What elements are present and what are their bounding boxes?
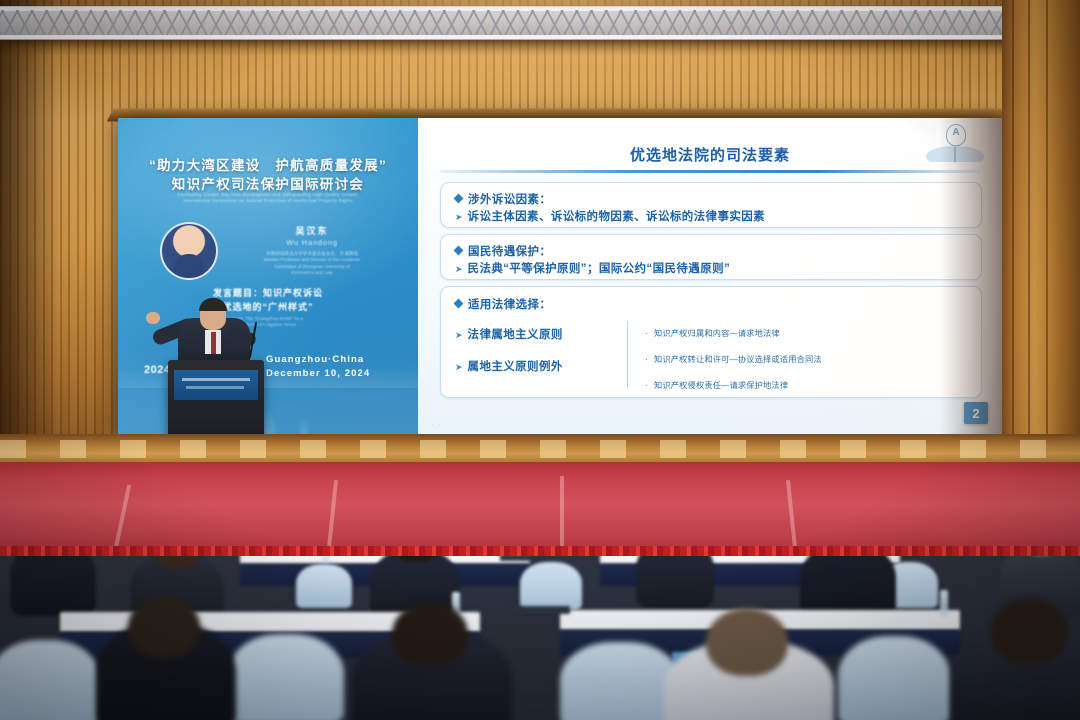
presentation-slide: 优选地法院的司法要素 涉外诉讼因素： ➤诉讼主体因素、诉讼标的物因素、诉讼标的法… [418, 118, 1002, 434]
block3-right-row-1: ·知识产权归属和内容—请求地法律 [645, 323, 780, 341]
chair [560, 642, 680, 720]
banner-glow [118, 118, 418, 308]
slide-footer-marker: · · · · [432, 422, 457, 428]
slide-title-underline [440, 170, 980, 173]
block3-left-row-2: ➤属地主义原则例外 [455, 357, 563, 375]
banner-title-en-line2: International Symposium on Judicial Prot… [134, 198, 402, 204]
audience-person [10, 556, 96, 616]
block2-item-row: ➤民法典“平等保护原则”；国际公约“国民待遇原则” [455, 259, 730, 277]
block1-heading-row: 涉外诉讼因素： [455, 190, 551, 208]
block3-heading: 适用法律选择： [468, 299, 551, 311]
lighting-truss [0, 6, 1080, 40]
block3-column-divider [627, 321, 628, 389]
chair [296, 564, 352, 608]
banner-year: 2024 [144, 364, 170, 376]
diamond-bullet-icon [454, 194, 464, 204]
wall-left-shadow [0, 0, 60, 470]
banner-date-en: December 10, 2024 [266, 368, 370, 379]
block3-left-item-2: 属地主义原则例外 [468, 361, 563, 373]
speaker-affiliation-en3: Economics and Law [214, 270, 410, 276]
banner-title-line1: “助力大湾区建设 护航高质量发展” [118, 154, 418, 174]
block1-heading: 涉外诉讼因素： [468, 194, 551, 206]
block2-heading-row: 国民待遇保护： [455, 242, 551, 260]
talk-topic-cn-line2: 优选地的“广州样式” [138, 300, 398, 314]
speaker-name-cn: 吴汉东 [214, 224, 410, 237]
block1-item-1: 诉讼主体因素、诉讼标的物因素、诉讼标的法律事实因素 [468, 211, 766, 223]
audience-head [392, 602, 468, 666]
block3-left-item-1: 法律属地主义原则 [468, 329, 563, 341]
speaker-tie [211, 332, 216, 354]
dot-bullet-icon: · [645, 380, 648, 390]
audience-person [636, 556, 714, 608]
emblem-crest [946, 124, 966, 146]
banner-title-english: Facilitating Greater Bay Area Developmen… [134, 192, 402, 204]
arrow-bullet-icon: ➤ [455, 362, 463, 373]
arrow-bullet-icon: ➤ [455, 264, 463, 275]
podium-banner [174, 370, 258, 400]
speaker-name-en: Wu Handong [214, 238, 410, 247]
arrow-bullet-icon: ➤ [455, 212, 463, 223]
audience-area: 知识产权司法保护国际研讨会 王 泉 Wang Quan [0, 556, 1080, 720]
banner-title-line2: 知识产权司法保护国际研讨会 [118, 173, 418, 193]
chair [228, 634, 344, 720]
audience-head [128, 596, 200, 658]
block3-right-item-2: 知识产权转让和许可—协议选择或适用合同法 [654, 355, 822, 364]
truss-bottom-rail [0, 35, 1080, 39]
wooden-pillar [1002, 0, 1080, 466]
diamond-bullet-icon [454, 246, 464, 256]
chair [520, 562, 582, 610]
block3-right-row-2: ·知识产权转让和许可—协议选择或适用合同法 [645, 349, 822, 367]
conference-hall-photo: “助力大湾区建设 护航高质量发展” 知识产权司法保护国际研讨会 Facilita… [0, 0, 1080, 720]
deck-seam-4 [113, 484, 131, 553]
chair [0, 640, 100, 720]
block2-heading: 国民待遇保护： [468, 246, 551, 258]
conference-banner-panel: “助力大湾区建设 护航高质量发展” 知识产权司法保护国际研讨会 Facilita… [118, 118, 418, 434]
dot-bullet-icon: · [645, 328, 648, 338]
chair [838, 636, 950, 720]
water-bottle [940, 590, 948, 616]
diamond-bullet-icon [454, 299, 464, 309]
slide-block-2: 国民待遇保护： ➤民法典“平等保护原则”；国际公约“国民待遇原则” [440, 234, 982, 280]
slide-page-number: 2 [964, 402, 988, 424]
audience-head [990, 598, 1068, 664]
laptop [512, 606, 570, 614]
speaker-affiliation: 中南财经政法大学学术委员会主任、文澜教授 Wenlan Professor an… [214, 251, 410, 277]
truss-lattice [0, 10, 1080, 36]
stage-deck [0, 462, 1080, 558]
banner-city-en: Guangzhou·China [266, 354, 364, 365]
audience-head [706, 608, 788, 676]
block3-right-item-3: 知识产权侵权责任—请求保护地法律 [654, 381, 788, 390]
water-bottle [322, 556, 330, 562]
block3-heading-row: 适用法律选择： [455, 295, 551, 313]
block3-right-row-3: ·知识产权侵权责任—请求保护地法律 [645, 375, 788, 393]
speaker-hand [146, 312, 160, 324]
block1-item-row: ➤诉讼主体因素、诉讼标的物因素、诉讼标的法律事实因素 [455, 207, 765, 225]
slide-block-1: 涉外诉讼因素： ➤诉讼主体因素、诉讼标的物因素、诉讼标的法律事实因素 [440, 182, 982, 228]
truss-shadow [0, 40, 1080, 56]
talk-topic-cn-line1: 发言题目：知识产权诉讼 [138, 286, 398, 300]
block3-right-item-1: 知识产权归属和内容—请求地法律 [654, 329, 780, 338]
speaker-portrait [160, 222, 218, 280]
block2-item-1: 民法典“平等保护原则”；国际公约“国民待遇原则” [468, 263, 731, 275]
block3-left-row-1: ➤法律属地主义原则 [455, 325, 563, 343]
stage-edge-lights [0, 440, 1080, 458]
talk-topic-cn: 发言题目：知识产权诉讼 优选地的“广州样式” [138, 286, 398, 314]
arrow-bullet-icon: ➤ [455, 330, 463, 341]
slide-block-3: 适用法律选择： ➤法律属地主义原则 ➤属地主义原则例外 ·知识产权归属和内容—请… [440, 286, 982, 398]
dot-bullet-icon: · [645, 354, 648, 364]
laptop [500, 556, 546, 561]
slide-title: 优选地法院的司法要素 [418, 144, 1002, 165]
